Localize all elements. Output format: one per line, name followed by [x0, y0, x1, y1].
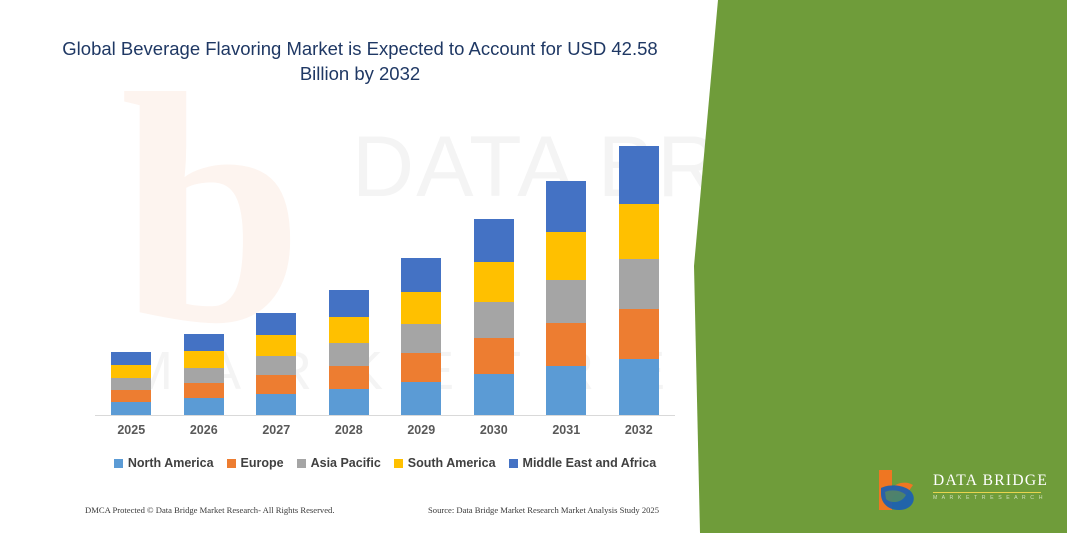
logo-mark-icon: [875, 466, 927, 514]
bar-segment: [474, 374, 514, 415]
legend-swatch-icon: [394, 459, 403, 468]
bar-column: [546, 181, 586, 415]
footer-source: Source: Data Bridge Market Research Mark…: [428, 505, 659, 515]
bar-segment: [329, 290, 369, 317]
bar-column: [401, 258, 441, 415]
bar-segment: [256, 394, 296, 415]
bar-segment: [401, 292, 441, 324]
legend-item[interactable]: Middle East and Africa: [509, 456, 657, 470]
x-axis-label: 2028: [329, 423, 369, 437]
bar-segment: [546, 232, 586, 280]
legend-item[interactable]: Asia Pacific: [297, 456, 381, 470]
bar-segment: [111, 402, 151, 415]
bar-segment: [546, 280, 586, 323]
x-axis-label: 2032: [619, 423, 659, 437]
logo-subtitle: M A R K E T R E S E A R C H: [933, 495, 1045, 501]
bar-segment: [619, 359, 659, 415]
bar-column: [329, 290, 369, 415]
bar-segment: [474, 338, 514, 374]
bar-segment: [184, 398, 224, 415]
bar-segment: [329, 366, 369, 389]
bar-segment: [619, 146, 659, 204]
legend-item[interactable]: Europe: [227, 456, 284, 470]
bar-segment: [546, 181, 586, 232]
logo-divider: [933, 492, 1041, 493]
bar-column: [256, 313, 296, 415]
chart-region: Global Beverage Flavoring Market is Expe…: [0, 0, 715, 533]
x-axis-label: 2026: [184, 423, 224, 437]
bar-segment: [256, 375, 296, 394]
footer-copyright: DMCA Protected © Data Bridge Market Rese…: [85, 505, 335, 515]
bar-column: [111, 352, 151, 415]
bar-segment: [619, 309, 659, 359]
hexagon-badges: 2025 2032: [715, 80, 1067, 215]
legend-swatch-icon: [227, 459, 236, 468]
legend-label: Asia Pacific: [311, 456, 381, 470]
x-axis-label: 2027: [256, 423, 296, 437]
bar-segment: [401, 258, 441, 292]
bar-segment: [546, 366, 586, 415]
legend-label: Middle East and Africa: [523, 456, 657, 470]
chart-legend: North AmericaEuropeAsia PacificSouth Ame…: [95, 456, 675, 470]
bar-column: [184, 334, 224, 415]
legend-swatch-icon: [114, 459, 123, 468]
legend-label: Europe: [241, 456, 284, 470]
bar-segment: [619, 259, 659, 309]
x-axis-label: 2031: [546, 423, 586, 437]
panel-heading: Global Beverage Flavoring Market, By Reg…: [735, 8, 1055, 54]
bar-segment: [184, 351, 224, 368]
bar-segment: [329, 343, 369, 366]
b-swoosh-icon: [875, 466, 927, 514]
infographic-canvas: b DATA BRIDGE M A R K E T R E S E A R C …: [0, 0, 1067, 533]
brand-line-1: DATA BRIDGE MARKET: [731, 235, 1051, 261]
legend-label: South America: [408, 456, 496, 470]
bar-segment: [256, 313, 296, 335]
bar-segment: [401, 353, 441, 382]
bar-segment: [474, 262, 514, 302]
legend-item[interactable]: North America: [114, 456, 214, 470]
bar-segment: [111, 365, 151, 378]
hexagon-badge-end: 2032: [835, 127, 933, 222]
footer: DMCA Protected © Data Bridge Market Rese…: [0, 505, 700, 525]
bar-segment: [474, 219, 514, 262]
bar-column: [619, 146, 659, 415]
legend-label: North America: [128, 456, 214, 470]
axis-baseline: [95, 415, 675, 416]
brand-name: DATA BRIDGE MARKET RESEARCH: [731, 235, 1051, 287]
bar-segment: [184, 334, 224, 351]
logo-wordmark: DATA BRIDGE M A R K E T R E S E A R C H: [933, 472, 1045, 501]
plot-area: [95, 110, 675, 416]
bar-segment: [474, 302, 514, 338]
legend-swatch-icon: [297, 459, 306, 468]
bar-segment: [401, 324, 441, 353]
bar-segment: [329, 389, 369, 415]
legend-swatch-icon: [509, 459, 518, 468]
bar-segment: [256, 356, 296, 375]
brand-line-2: RESEARCH: [731, 261, 1051, 287]
x-axis-label: 2025: [111, 423, 151, 437]
bar-segment: [329, 317, 369, 343]
bar-segment: [111, 352, 151, 365]
x-axis-label: 2029: [401, 423, 441, 437]
bar-segment: [184, 368, 224, 383]
bar-group: [95, 115, 675, 415]
bar-segment: [111, 390, 151, 402]
bar-segment: [184, 383, 224, 398]
logo-name: DATA BRIDGE: [933, 472, 1045, 490]
bar-column: [474, 219, 514, 415]
bar-segment: [111, 378, 151, 390]
hexagon-badge-end-label: 2032: [835, 127, 933, 222]
legend-item[interactable]: South America: [394, 456, 496, 470]
page-title: Global Beverage Flavoring Market is Expe…: [60, 36, 660, 86]
bar-segment: [546, 323, 586, 366]
x-axis-labels: 20252026202720282029203020312032: [95, 423, 675, 437]
x-axis-label: 2030: [474, 423, 514, 437]
bar-segment: [401, 382, 441, 415]
bar-segment: [256, 335, 296, 356]
panel-content: Global Beverage Flavoring Market, By Reg…: [715, 0, 1067, 533]
bar-segment: [619, 204, 659, 259]
data-bridge-logo: DATA BRIDGE M A R K E T R E S E A R C H: [875, 466, 1045, 514]
